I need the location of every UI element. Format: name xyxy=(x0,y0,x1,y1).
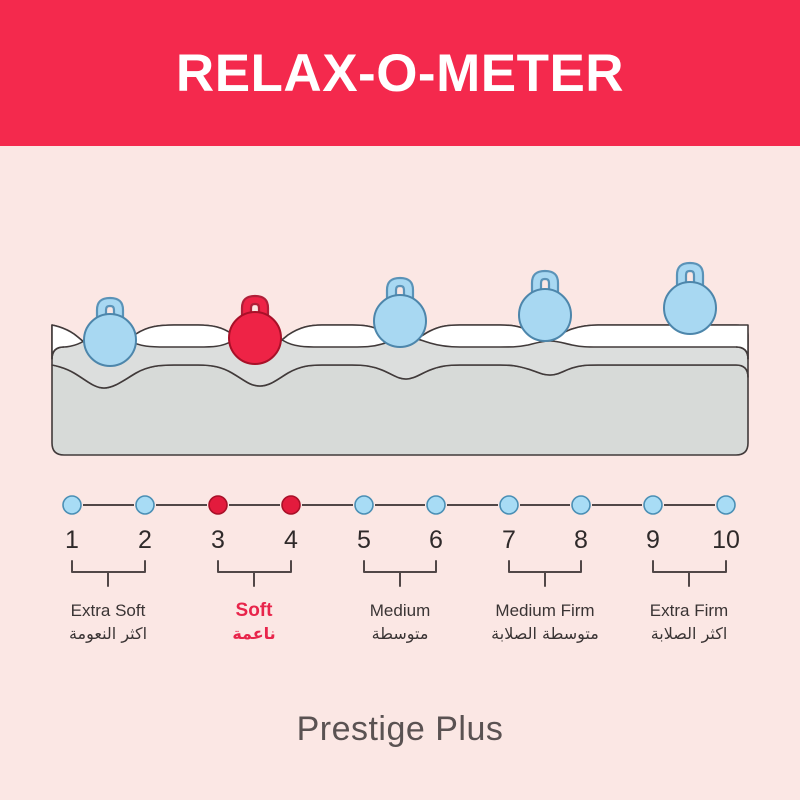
scale-dot-10[interactable] xyxy=(717,496,735,514)
bracket-extra-firm xyxy=(653,561,726,586)
scale-label-5: 5 xyxy=(357,526,371,554)
bracket-medium-firm xyxy=(509,561,581,586)
bracket-soft xyxy=(218,561,291,586)
scale-label-10: 10 xyxy=(712,526,740,554)
weight-2-red xyxy=(229,296,281,364)
scale-label-6: 6 xyxy=(429,526,443,554)
page-title: RELAX-O-METER xyxy=(176,47,624,100)
scale-label-1: 1 xyxy=(65,526,79,554)
scale-label-9: 9 xyxy=(646,526,660,554)
scale-label-3: 3 xyxy=(211,526,225,554)
scale-label-4: 4 xyxy=(284,526,298,554)
weight-body-icon xyxy=(229,312,281,364)
bracket-extra-soft xyxy=(72,561,145,586)
scale-dot-9[interactable] xyxy=(644,496,662,514)
weight-body-icon xyxy=(664,282,716,334)
scale-dot-2[interactable] xyxy=(136,496,154,514)
category-brackets xyxy=(72,561,726,586)
scale-dot-1[interactable] xyxy=(63,496,81,514)
weight-body-icon xyxy=(519,289,571,341)
weight-1-blue xyxy=(84,298,136,366)
scale-label-8: 8 xyxy=(574,526,588,554)
scale-label-7: 7 xyxy=(502,526,516,554)
weight-body-icon xyxy=(374,295,426,347)
scale-label-2: 2 xyxy=(138,526,152,554)
weight-4-blue xyxy=(519,271,571,341)
scale-dot-5[interactable] xyxy=(355,496,373,514)
category-label-ar: اكثر الصلابة xyxy=(599,622,779,646)
scale-dot-4[interactable] xyxy=(282,496,300,514)
product-name: Prestige Plus xyxy=(0,710,800,749)
scale-dot-3[interactable] xyxy=(209,496,227,514)
relax-o-meter-infographic: RELAX-O-METER xyxy=(0,0,800,800)
mattress-illustration xyxy=(0,255,800,485)
bracket-medium xyxy=(364,561,436,586)
category-labels: Extra Soft اكثر النعومة Soft ناعمة Mediu… xyxy=(0,600,800,670)
category-extra-firm[interactable]: Extra Firm اكثر الصلابة xyxy=(599,600,779,646)
weight-body-icon xyxy=(84,314,136,366)
header-banner: RELAX-O-METER xyxy=(0,0,800,146)
category-label-en: Extra Firm xyxy=(599,600,779,622)
scale-dot-8[interactable] xyxy=(572,496,590,514)
weight-3-blue xyxy=(374,278,426,347)
weight-5-blue xyxy=(664,263,716,334)
firmness-scale: 1 2 3 4 5 6 7 8 9 10 xyxy=(0,488,800,608)
scale-dot-7[interactable] xyxy=(500,496,518,514)
scale-dot-6[interactable] xyxy=(427,496,445,514)
